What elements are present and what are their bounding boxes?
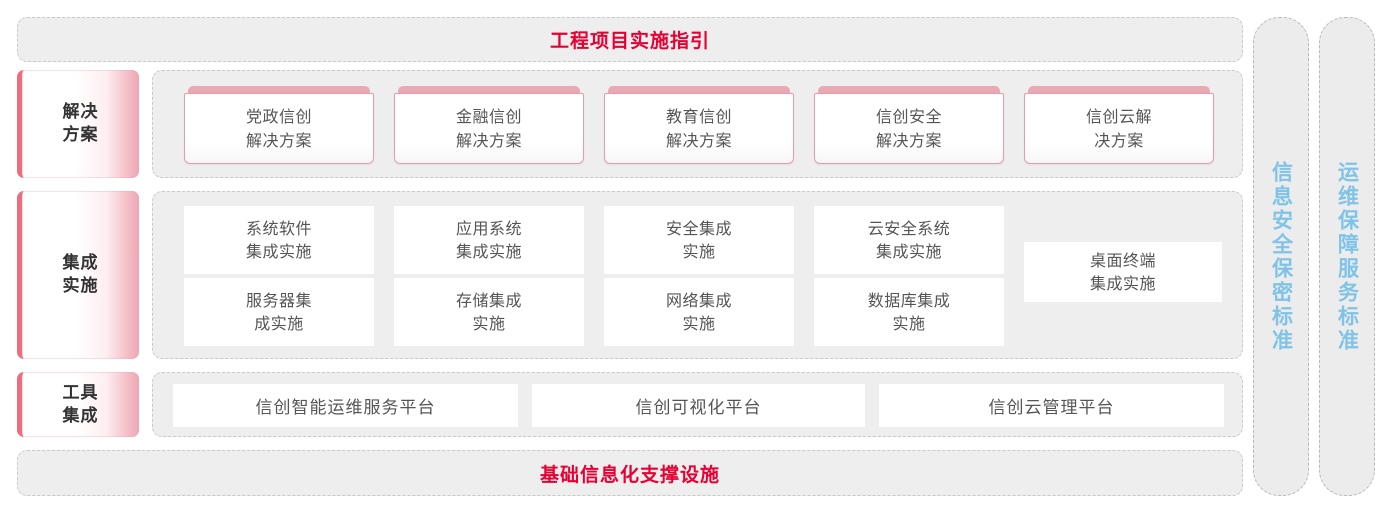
row-tab-solution-line1: 解决: [63, 101, 99, 124]
panel-solution: 党政信创 解决方案 金融信创 解决方案 教育信创 解决方案: [152, 70, 1243, 178]
integration-card-r2c2-line1: 存储集成: [456, 289, 522, 312]
side-panel-security-standard-label: 信息安全保密标准: [1267, 161, 1296, 353]
top-banner-title: 工程项目实施指引: [550, 26, 710, 53]
panel-tools: 信创智能运维服务平台 信创可视化平台 信创云管理平台: [152, 372, 1243, 437]
integration-card-r2c4-text: 数据库集成 实施: [868, 289, 951, 335]
row-tab-tools[interactable]: 工具 集成: [17, 372, 139, 437]
row-tab-tools-line2: 集成: [63, 405, 99, 428]
integration-card-r2c1-line2: 成实施: [246, 312, 312, 335]
side-panel-security-standard[interactable]: 信息安全保密标准: [1253, 17, 1309, 496]
integration-card-r1c3-text: 安全集成 实施: [666, 217, 732, 263]
solution-card-2[interactable]: 金融信创 解决方案: [394, 86, 584, 164]
integration-card-r2c3[interactable]: 网络集成 实施: [604, 278, 794, 346]
integration-card-r2c3-line1: 网络集成: [666, 289, 732, 312]
integration-card-r1c4-line1: 云安全系统: [868, 217, 951, 240]
solution-card-5-line2: 决方案: [1086, 129, 1152, 152]
solution-card-3[interactable]: 教育信创 解决方案: [604, 86, 794, 164]
solution-card-1-line2: 解决方案: [246, 129, 312, 152]
integration-card-r1c4-line2: 集成实施: [868, 240, 951, 263]
tool-card-3[interactable]: 信创云管理平台: [879, 384, 1224, 427]
solution-card-4-text: 信创安全 解决方案: [876, 105, 942, 151]
integration-card-desktop-terminal-line1: 桌面终端: [1090, 249, 1156, 272]
integration-card-r2c1-text: 服务器集 成实施: [246, 289, 312, 335]
solution-card-3-sheet: 教育信创 解决方案: [604, 93, 794, 164]
integration-card-r1c1[interactable]: 系统软件 集成实施: [184, 206, 374, 274]
solution-card-4[interactable]: 信创安全 解决方案: [814, 86, 1004, 164]
integration-card-desktop-terminal-line2: 集成实施: [1090, 272, 1156, 295]
integration-card-r1c2-line1: 应用系统: [456, 217, 522, 240]
solution-card-1-line1: 党政信创: [246, 105, 312, 128]
integration-card-r1c2[interactable]: 应用系统 集成实施: [394, 206, 584, 274]
solution-card-2-line2: 解决方案: [456, 129, 522, 152]
integration-card-r2c4-line2: 实施: [868, 312, 951, 335]
solution-card-5-sheet: 信创云解 决方案: [1024, 93, 1214, 164]
integration-card-r1c2-text: 应用系统 集成实施: [456, 217, 522, 263]
tool-card-2-label: 信创可视化平台: [636, 393, 762, 418]
integration-card-r1c2-line2: 集成实施: [456, 240, 522, 263]
diagram-root: 工程项目实施指引 解决 方案 党政信创 解决方案 金融信创 解决方案: [0, 0, 1390, 515]
solution-card-4-line1: 信创安全: [876, 105, 942, 128]
top-banner: 工程项目实施指引: [17, 17, 1243, 62]
row-tab-solution-line2: 方案: [63, 124, 99, 147]
solution-card-4-sheet: 信创安全 解决方案: [814, 93, 1004, 164]
side-panel-ops-standard-label: 运维保障服务标准: [1333, 161, 1362, 353]
solution-card-1-text: 党政信创 解决方案: [246, 105, 312, 151]
integration-card-r1c3[interactable]: 安全集成 实施: [604, 206, 794, 274]
solution-card-2-sheet: 金融信创 解决方案: [394, 93, 584, 164]
integration-card-r1c3-line1: 安全集成: [666, 217, 732, 240]
integration-card-r1c1-text: 系统软件 集成实施: [246, 217, 312, 263]
integration-card-desktop-terminal-text: 桌面终端 集成实施: [1090, 249, 1156, 295]
row-tab-solution-label: 解决 方案: [63, 101, 99, 147]
solution-card-4-line2: 解决方案: [876, 129, 942, 152]
bottom-banner-title: 基础信息化支撑设施: [540, 460, 720, 487]
integration-card-r2c4[interactable]: 数据库集成 实施: [814, 278, 1004, 346]
integration-card-r1c4[interactable]: 云安全系统 集成实施: [814, 206, 1004, 274]
integration-card-r2c3-text: 网络集成 实施: [666, 289, 732, 335]
solution-card-5-line1: 信创云解: [1086, 105, 1152, 128]
row-tab-tools-label: 工具 集成: [63, 382, 99, 428]
row-tab-integration-label: 集成 实施: [63, 252, 99, 298]
bottom-banner: 基础信息化支撑设施: [17, 450, 1243, 496]
solution-card-3-line2: 解决方案: [666, 129, 732, 152]
integration-card-r2c2-line2: 实施: [456, 312, 522, 335]
tool-card-2[interactable]: 信创可视化平台: [532, 384, 865, 427]
integration-card-r2c4-line1: 数据库集成: [868, 289, 951, 312]
solution-card-3-text: 教育信创 解决方案: [666, 105, 732, 151]
solution-card-1[interactable]: 党政信创 解决方案: [184, 86, 374, 164]
solution-card-1-sheet: 党政信创 解决方案: [184, 93, 374, 164]
integration-card-r1c1-line1: 系统软件: [246, 217, 312, 240]
integration-card-r1c1-line2: 集成实施: [246, 240, 312, 263]
row-tab-integration-line1: 集成: [63, 252, 99, 275]
row-tab-integration[interactable]: 集成 实施: [17, 191, 139, 359]
integration-card-r2c2-text: 存储集成 实施: [456, 289, 522, 335]
row-tab-integration-line2: 实施: [63, 275, 99, 298]
solution-card-2-text: 金融信创 解决方案: [456, 105, 522, 151]
solution-card-5[interactable]: 信创云解 决方案: [1024, 86, 1214, 164]
solution-card-2-line1: 金融信创: [456, 105, 522, 128]
integration-card-r1c3-line2: 实施: [666, 240, 732, 263]
panel-integration: 系统软件 集成实施 应用系统 集成实施 安全集成 实施 云安全系统 集成实施: [152, 191, 1243, 359]
side-panel-ops-standard[interactable]: 运维保障服务标准: [1319, 17, 1375, 496]
integration-card-r2c1-line1: 服务器集: [246, 289, 312, 312]
solution-card-5-text: 信创云解 决方案: [1086, 105, 1152, 151]
integration-card-r2c2[interactable]: 存储集成 实施: [394, 278, 584, 346]
integration-card-r2c1[interactable]: 服务器集 成实施: [184, 278, 374, 346]
integration-card-r1c4-text: 云安全系统 集成实施: [868, 217, 951, 263]
row-tab-solution[interactable]: 解决 方案: [17, 70, 139, 178]
tool-card-3-label: 信创云管理平台: [989, 393, 1115, 418]
tool-card-1[interactable]: 信创智能运维服务平台: [173, 384, 518, 427]
tool-card-1-label: 信创智能运维服务平台: [256, 393, 436, 418]
solution-card-3-line1: 教育信创: [666, 105, 732, 128]
integration-card-desktop-terminal[interactable]: 桌面终端 集成实施: [1024, 242, 1222, 302]
row-tab-tools-line1: 工具: [63, 382, 99, 405]
integration-card-r2c3-line2: 实施: [666, 312, 732, 335]
